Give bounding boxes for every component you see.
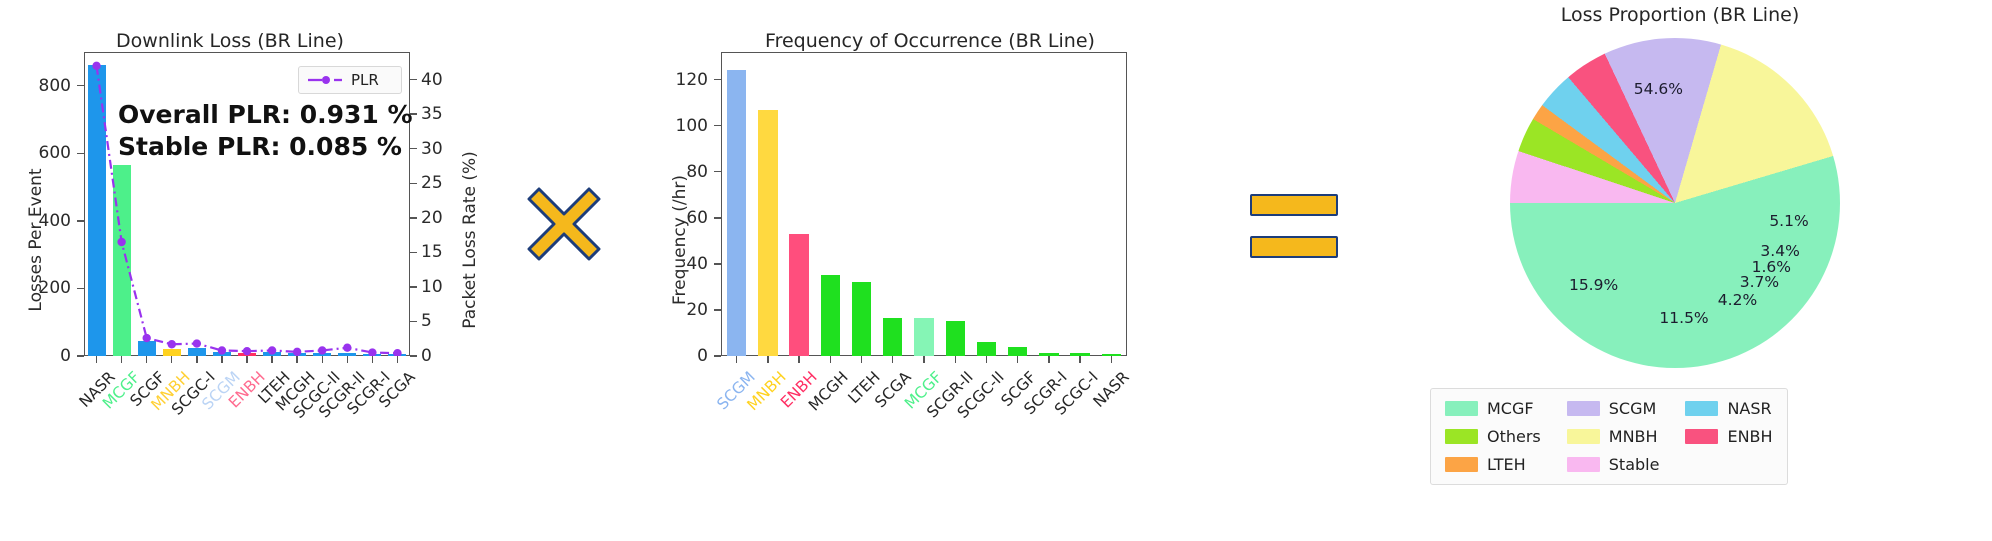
x-tick-mark (986, 356, 987, 363)
bar-MCGF (914, 318, 933, 356)
x-tick-mark (892, 356, 893, 363)
x-tick-mark (171, 356, 172, 363)
y-tick-label-right: 30 (421, 139, 443, 159)
panel-downlink-loss: Downlink Loss (BR Line) Losses Per Event… (0, 0, 520, 541)
figure-canvas: Downlink Loss (BR Line) Losses Per Event… (0, 0, 1992, 541)
pie-label-LTEH: 1.6% (1752, 258, 1791, 276)
x-tick-mark (955, 356, 956, 363)
plot-area-frequency (721, 52, 1127, 356)
legend-downlink-loss[interactable]: PLR (298, 66, 402, 94)
y-tick-mark-frequency (714, 263, 721, 264)
y-tick-mark-left (77, 220, 84, 221)
annotation-stable-plr: Stable PLR: 0.085 % (118, 132, 402, 161)
y-axis-label-frequency: Frequency (/hr) (670, 160, 690, 320)
x-tick-mark (736, 356, 737, 363)
x-tick-mark (96, 356, 97, 363)
y-tick-label-right: 15 (421, 242, 443, 262)
bar-SCGF (1008, 347, 1027, 356)
x-tick-mark (1079, 356, 1080, 363)
bar-SCGM (727, 70, 746, 356)
equals-bar-bottom (1250, 236, 1338, 258)
bar-ENBH (789, 234, 808, 356)
legend-item-SCGM[interactable]: SCGM (1567, 399, 1660, 418)
legend-swatch-Others (1445, 429, 1478, 444)
y-tick-label-frequency: 40 (620, 254, 708, 274)
bar-MNBH (163, 349, 181, 356)
y-tick-label-right: 5 (421, 311, 432, 331)
legend-swatch-LTEH (1445, 457, 1478, 472)
x-tick-mark (1048, 356, 1049, 363)
annotation-overall-plr: Overall PLR: 0.931 % (118, 100, 413, 129)
x-tick-mark (271, 356, 272, 363)
x-tick-mark (830, 356, 831, 363)
legend-label-Others: Others (1487, 427, 1541, 446)
x-tick-mark (1111, 356, 1112, 363)
x-tick-mark (923, 356, 924, 363)
x-tick-mark (1017, 356, 1018, 363)
y-tick-mark-left (77, 355, 84, 356)
bar-NASR (88, 65, 106, 356)
pie-label-Stable: 5.1% (1769, 212, 1808, 230)
legend-item-ENBH[interactable]: ENBH (1685, 427, 1772, 446)
x-tick-mark (322, 356, 323, 363)
legend-loss-proportion[interactable]: MCGFSCGMNASROthersMNBHENBHLTEHStable (1430, 388, 1788, 485)
chart-title-downlink-loss: Downlink Loss (BR Line) (60, 30, 400, 52)
chart-title-frequency: Frequency of Occurrence (BR Line) (720, 30, 1140, 52)
equals-operator-icon (1250, 188, 1334, 260)
y-tick-label-right: 25 (421, 173, 443, 193)
y-tick-mark-right (410, 183, 417, 184)
y-tick-label-left: 0 (0, 346, 71, 366)
bar-SCGC-II (977, 342, 996, 356)
y-tick-label-frequency: 80 (620, 162, 708, 182)
y-tick-mark-right (410, 355, 417, 356)
equals-bar-top (1250, 194, 1338, 216)
y-tick-mark-right (410, 286, 417, 287)
y-tick-label-right: 35 (421, 104, 443, 124)
y-axis-label-packet-loss-rate: Packet Loss Rate (%) (460, 145, 480, 335)
legend-label-ENBH: ENBH (1727, 427, 1772, 446)
y-tick-mark-frequency (714, 355, 721, 356)
y-tick-label-right: 10 (421, 277, 443, 297)
legend-item-NASR[interactable]: NASR (1685, 399, 1772, 418)
legend-label-NASR: NASR (1727, 399, 1771, 418)
pie-label-MNBH: 15.9% (1569, 276, 1618, 294)
bar-MCGH (821, 275, 840, 356)
panel-loss-proportion: Loss Proportion (BR Line) 54.6%15.9%11.5… (1370, 0, 1992, 541)
y-tick-mark-right (410, 321, 417, 322)
y-tick-label-frequency: 0 (620, 346, 708, 366)
pie-label-SCGM: 11.5% (1659, 309, 1708, 327)
y-tick-mark-frequency (714, 125, 721, 126)
x-tick-mark (397, 356, 398, 363)
x-tick-mark (146, 356, 147, 363)
x-tick-mark (347, 356, 348, 363)
pie-label-ENBH: 4.2% (1718, 291, 1757, 309)
y-tick-mark-right (410, 148, 417, 149)
y-tick-mark-right (410, 217, 417, 218)
y-tick-mark-frequency (714, 217, 721, 218)
y-tick-mark-right (410, 252, 417, 253)
y-tick-label-left: 400 (0, 211, 71, 231)
plot-area-downlink-loss (84, 52, 410, 356)
y-tick-label-left: 200 (0, 278, 71, 298)
y-tick-label-frequency: 100 (620, 116, 708, 136)
y-tick-label-frequency: 20 (620, 300, 708, 320)
legend-label-MCGF: MCGF (1487, 399, 1534, 418)
y-tick-mark-left (77, 153, 84, 154)
pie-label-Others: 3.4% (1760, 242, 1799, 260)
bar-LTEH (852, 282, 871, 356)
y-tick-mark-frequency (714, 309, 721, 310)
x-tick-mark (246, 356, 247, 363)
x-tick-mark (798, 356, 799, 363)
legend-swatch-SCGM (1567, 401, 1600, 416)
panel-frequency-of-occurrence: Frequency of Occurrence (BR Line) Freque… (620, 0, 1180, 541)
bar-SCGF (138, 341, 156, 356)
y-tick-label-frequency: 120 (620, 70, 708, 90)
y-tick-mark-frequency (714, 79, 721, 80)
times-operator-icon (525, 185, 603, 263)
bar-SCGA (883, 318, 902, 356)
bar-MNBH (758, 110, 777, 356)
legend-swatch-ENBH (1685, 429, 1718, 444)
y-tick-label-frequency: 60 (620, 208, 708, 228)
bar-MCGF (113, 165, 131, 356)
x-tick-mark (196, 356, 197, 363)
y-tick-mark-frequency (714, 171, 721, 172)
x-tick-mark (221, 356, 222, 363)
x-tick-mark (767, 356, 768, 363)
pie-label-MCGF: 54.6% (1634, 80, 1683, 98)
x-tick-mark (861, 356, 862, 363)
chart-title-loss-proportion: Loss Proportion (BR Line) (1500, 4, 1860, 26)
x-tick-mark (372, 356, 373, 363)
legend-item-Stable[interactable]: Stable (1567, 455, 1660, 474)
legend-label-LTEH: LTEH (1487, 455, 1526, 474)
legend-item-MNBH[interactable]: MNBH (1567, 427, 1660, 446)
legend-label-plr: PLR (351, 71, 379, 89)
y-tick-mark-right (410, 79, 417, 80)
y-tick-label-left: 800 (0, 76, 71, 96)
y-tick-label-right: 0 (421, 346, 432, 366)
y-tick-label-right: 20 (421, 208, 443, 228)
legend-label-MNBH: MNBH (1609, 427, 1658, 446)
y-tick-mark-left (77, 288, 84, 289)
legend-swatch-NASR (1685, 401, 1718, 416)
bar-SCGC-I (188, 348, 206, 356)
legend-label-Stable: Stable (1609, 455, 1660, 474)
legend-item-Others[interactable]: Others (1445, 427, 1541, 446)
legend-label-SCGM: SCGM (1609, 399, 1657, 418)
bar-SCGR-II (946, 321, 965, 356)
legend-swatch-Stable (1567, 457, 1600, 472)
legend-item-LTEH[interactable]: LTEH (1445, 455, 1541, 474)
plr-line-swatch-icon (308, 74, 344, 86)
x-tick-mark (296, 356, 297, 363)
y-tick-label-right: 40 (421, 70, 443, 90)
legend-swatch-MCGF (1445, 401, 1478, 416)
legend-item-MCGF[interactable]: MCGF (1445, 399, 1541, 418)
y-tick-mark-left (77, 85, 84, 86)
y-tick-label-left: 600 (0, 143, 71, 163)
x-tick-mark (121, 356, 122, 363)
legend-swatch-MNBH (1567, 429, 1600, 444)
